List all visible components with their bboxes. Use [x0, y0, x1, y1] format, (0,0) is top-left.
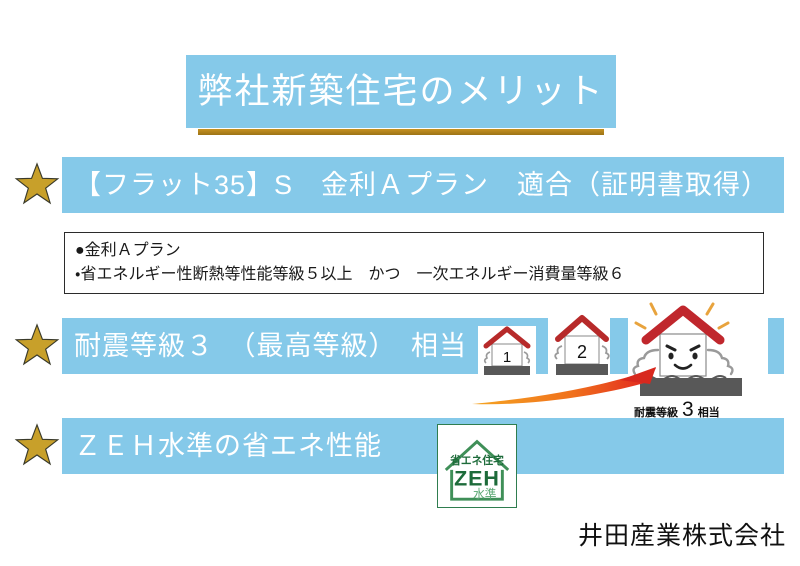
- svg-text:ZEH: ZEH: [454, 467, 500, 491]
- feature-label-flat35: 【フラット35】S 金利Ａプラン 適合（証明書取得）: [62, 172, 769, 199]
- feature-label-zeh: ＺＥＨ水準の省エネ性能: [62, 433, 382, 460]
- svg-text:2: 2: [577, 342, 587, 362]
- zeh-house-icon: 省エネ住宅 ZEH 水準: [437, 424, 517, 508]
- title-underline-bar: [198, 129, 604, 135]
- seismic-caption: 耐震等級 3 相当: [634, 399, 720, 420]
- feature-band-zeh: ＺＥＨ水準の省エネ性能: [62, 418, 784, 474]
- seismic-caption-grade: 3: [682, 399, 694, 420]
- star-icon: [14, 323, 60, 369]
- detail-line-requirements: ・省エネルギー性断熱等性能等級５以上 かつ 一次エネルギー消費量等級６: [75, 263, 755, 287]
- company-name: 井田産業株式会社: [578, 516, 786, 552]
- detail-line-plan: ●金利Ａプラン: [75, 239, 755, 263]
- svg-text:省エネ住宅: 省エネ住宅: [449, 454, 504, 467]
- detail-box-flat35: ●金利Ａプラン ・省エネルギー性断熱等性能等級５以上 かつ 一次エネルギー消費量…: [64, 232, 764, 294]
- svg-text:水準: 水準: [473, 487, 497, 501]
- page-title: 弊社新築住宅のメリット: [197, 74, 604, 109]
- feature-label-seismic: 耐震等級３ （最高等級） 相当: [62, 333, 467, 360]
- feature-band-flat35: 【フラット35】S 金利Ａプラン 適合（証明書取得）: [62, 157, 784, 213]
- star-icon: [14, 162, 60, 208]
- seismic-grade-illustration: 1 2: [470, 296, 770, 424]
- star-icon: [14, 423, 60, 469]
- slide-canvas: 弊社新築住宅のメリット 【フラット35】S 金利Ａプラン 適合（証明書取得） ●…: [0, 0, 800, 566]
- svg-text:1: 1: [503, 349, 511, 366]
- page-title-banner: 弊社新築住宅のメリット: [186, 55, 616, 128]
